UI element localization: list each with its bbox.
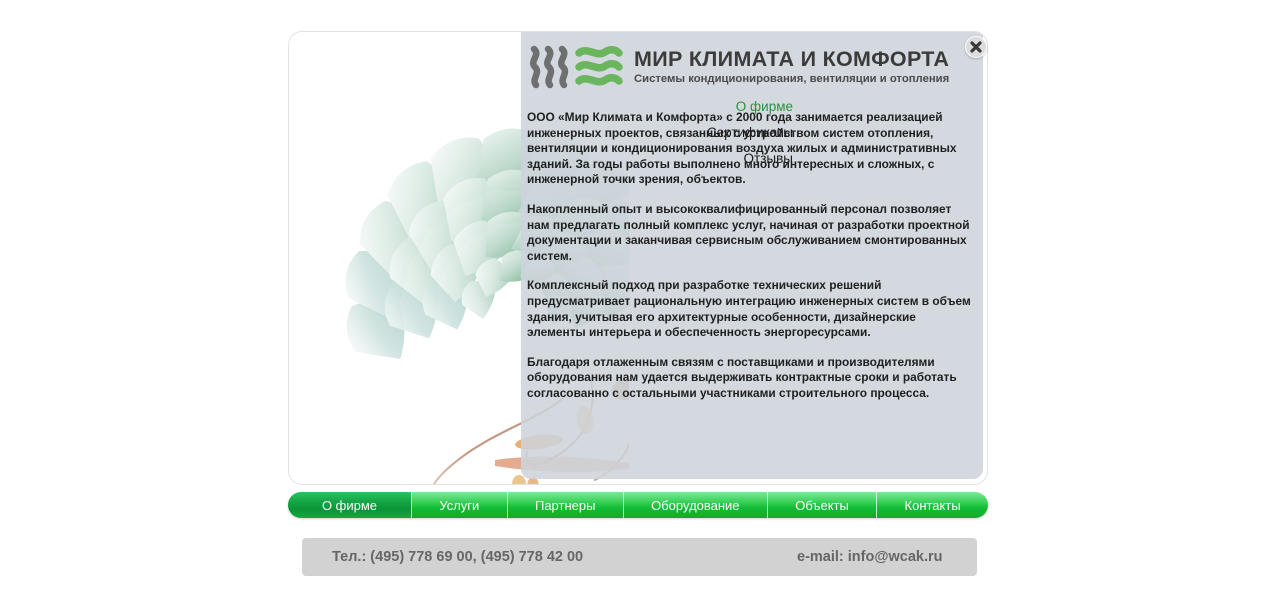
footer-contact-bar: Тел.: (495) 778 69 00, (495) 778 42 00 e… — [302, 538, 977, 576]
waves-logo-icon — [528, 45, 624, 89]
nav-item-about[interactable]: О фирме — [288, 492, 411, 518]
paragraph-3: Комплексный подход при разработке технич… — [527, 278, 973, 340]
logo-title: МИР КЛИМАТА И КОМФОРТА — [634, 47, 949, 71]
submenu-nav: О фирме Сертификаты Отзывы — [619, 94, 799, 172]
page-root: О фирме Сертификаты Отзывы — [0, 0, 1280, 600]
paragraph-4: Благодаря отлаженным связям с поставщика… — [527, 355, 973, 402]
submenu-item-about[interactable]: О фирме — [619, 94, 799, 120]
close-button[interactable] — [965, 36, 987, 58]
footer-email: e-mail: info@wcak.ru — [797, 549, 942, 565]
site-card: О фирме Сертификаты Отзывы — [288, 31, 988, 485]
footer-phone: Тел.: (495) 778 69 00, (495) 778 42 00 — [332, 549, 583, 565]
paragraph-2: Накопленный опыт и высококвалифицированн… — [527, 202, 973, 264]
logo-text-block: МИР КЛИМАТА И КОМФОРТА Системы кондицион… — [634, 47, 949, 87]
submenu-item-certificates[interactable]: Сертификаты — [619, 120, 799, 146]
main-nav: О фирме Услуги Партнеры Оборудование Объ… — [288, 492, 988, 518]
close-icon — [966, 37, 986, 57]
nav-item-equipment[interactable]: Оборудование — [623, 492, 767, 518]
nav-item-partners[interactable]: Партнеры — [507, 492, 623, 518]
nav-item-projects[interactable]: Объекты — [767, 492, 876, 518]
submenu-item-reviews[interactable]: Отзывы — [619, 146, 799, 172]
logo-subtitle: Системы кондиционирования, вентиляции и … — [634, 71, 949, 87]
nav-item-contacts[interactable]: Контакты — [876, 492, 988, 518]
site-logo: МИР КЛИМАТА И КОМФОРТА Системы кондицион… — [521, 32, 983, 101]
nav-item-services[interactable]: Услуги — [411, 492, 507, 518]
